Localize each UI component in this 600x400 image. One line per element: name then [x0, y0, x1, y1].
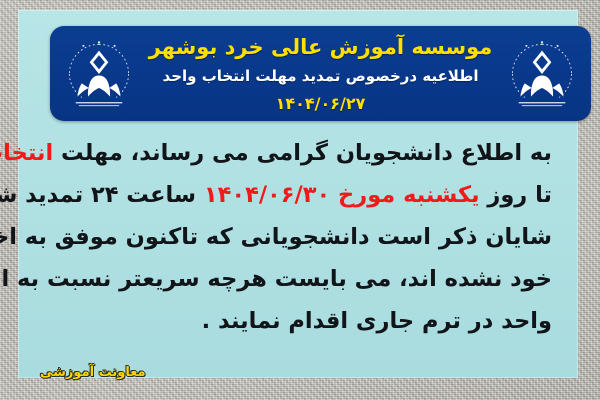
body-line: به اطلاع دانشجویان گرامی می رساند، مهلت …: [48, 132, 552, 174]
body-text-span: واحد در ترم جاری اقدام نمایند .: [202, 308, 552, 334]
notice-subtitle: اطلاعیه درخصوص تمدید مهلت انتخاب واحد: [163, 64, 479, 88]
body-line: شایان ذکر است دانشجویانی که تاکنون موفق …: [48, 216, 552, 258]
university-logo-left: [60, 35, 138, 113]
university-logo-right: [503, 35, 581, 113]
body-line: خود نشده اند، می بایست هرچه سریعتر نسبت …: [48, 258, 552, 300]
body-text-span: به اطلاع دانشجویان گرامی می رساند، مهلت: [53, 140, 552, 166]
body-line: واحد در ترم جاری اقدام نمایند .: [48, 300, 552, 342]
highlighted-text: یکشنبه مورخ ۱۴۰۴/۰۶/۳۰: [204, 182, 480, 208]
organization-title: موسسه آموزش عالی خرد بوشهر: [149, 33, 493, 61]
header-text-block: موسسه آموزش عالی خرد بوشهر اطلاعیه درخصو…: [145, 30, 496, 119]
header-banner: موسسه آموزش عالی خرد بوشهر اطلاعیه درخصو…: [50, 26, 591, 121]
highlighted-text: انتخاب واحد: [0, 140, 53, 166]
announcement-poster: موسسه آموزش عالی خرد بوشهر اطلاعیه درخصو…: [0, 0, 600, 400]
body-text-span: شایان ذکر است دانشجویانی که تاکنون موفق …: [0, 224, 552, 250]
body-text-span: ساعت ۲۴ تمدید شد.: [0, 182, 204, 208]
body-line: تا روز یکشنبه مورخ ۱۴۰۴/۰۶/۳۰ ساعت ۲۴ تم…: [48, 174, 552, 216]
body-text-span: خود نشده اند، می بایست هرچه سریعتر نسبت …: [0, 266, 552, 292]
body-text-span: تا روز: [480, 182, 552, 208]
notice-date: ۱۴۰۴/۰۶/۲۷: [276, 92, 366, 116]
signature-label: معاونت آموزشی: [40, 365, 146, 380]
announcement-card: موسسه آموزش عالی خرد بوشهر اطلاعیه درخصو…: [18, 10, 578, 378]
announcement-body: به اطلاع دانشجویان گرامی می رساند، مهلت …: [48, 132, 552, 342]
